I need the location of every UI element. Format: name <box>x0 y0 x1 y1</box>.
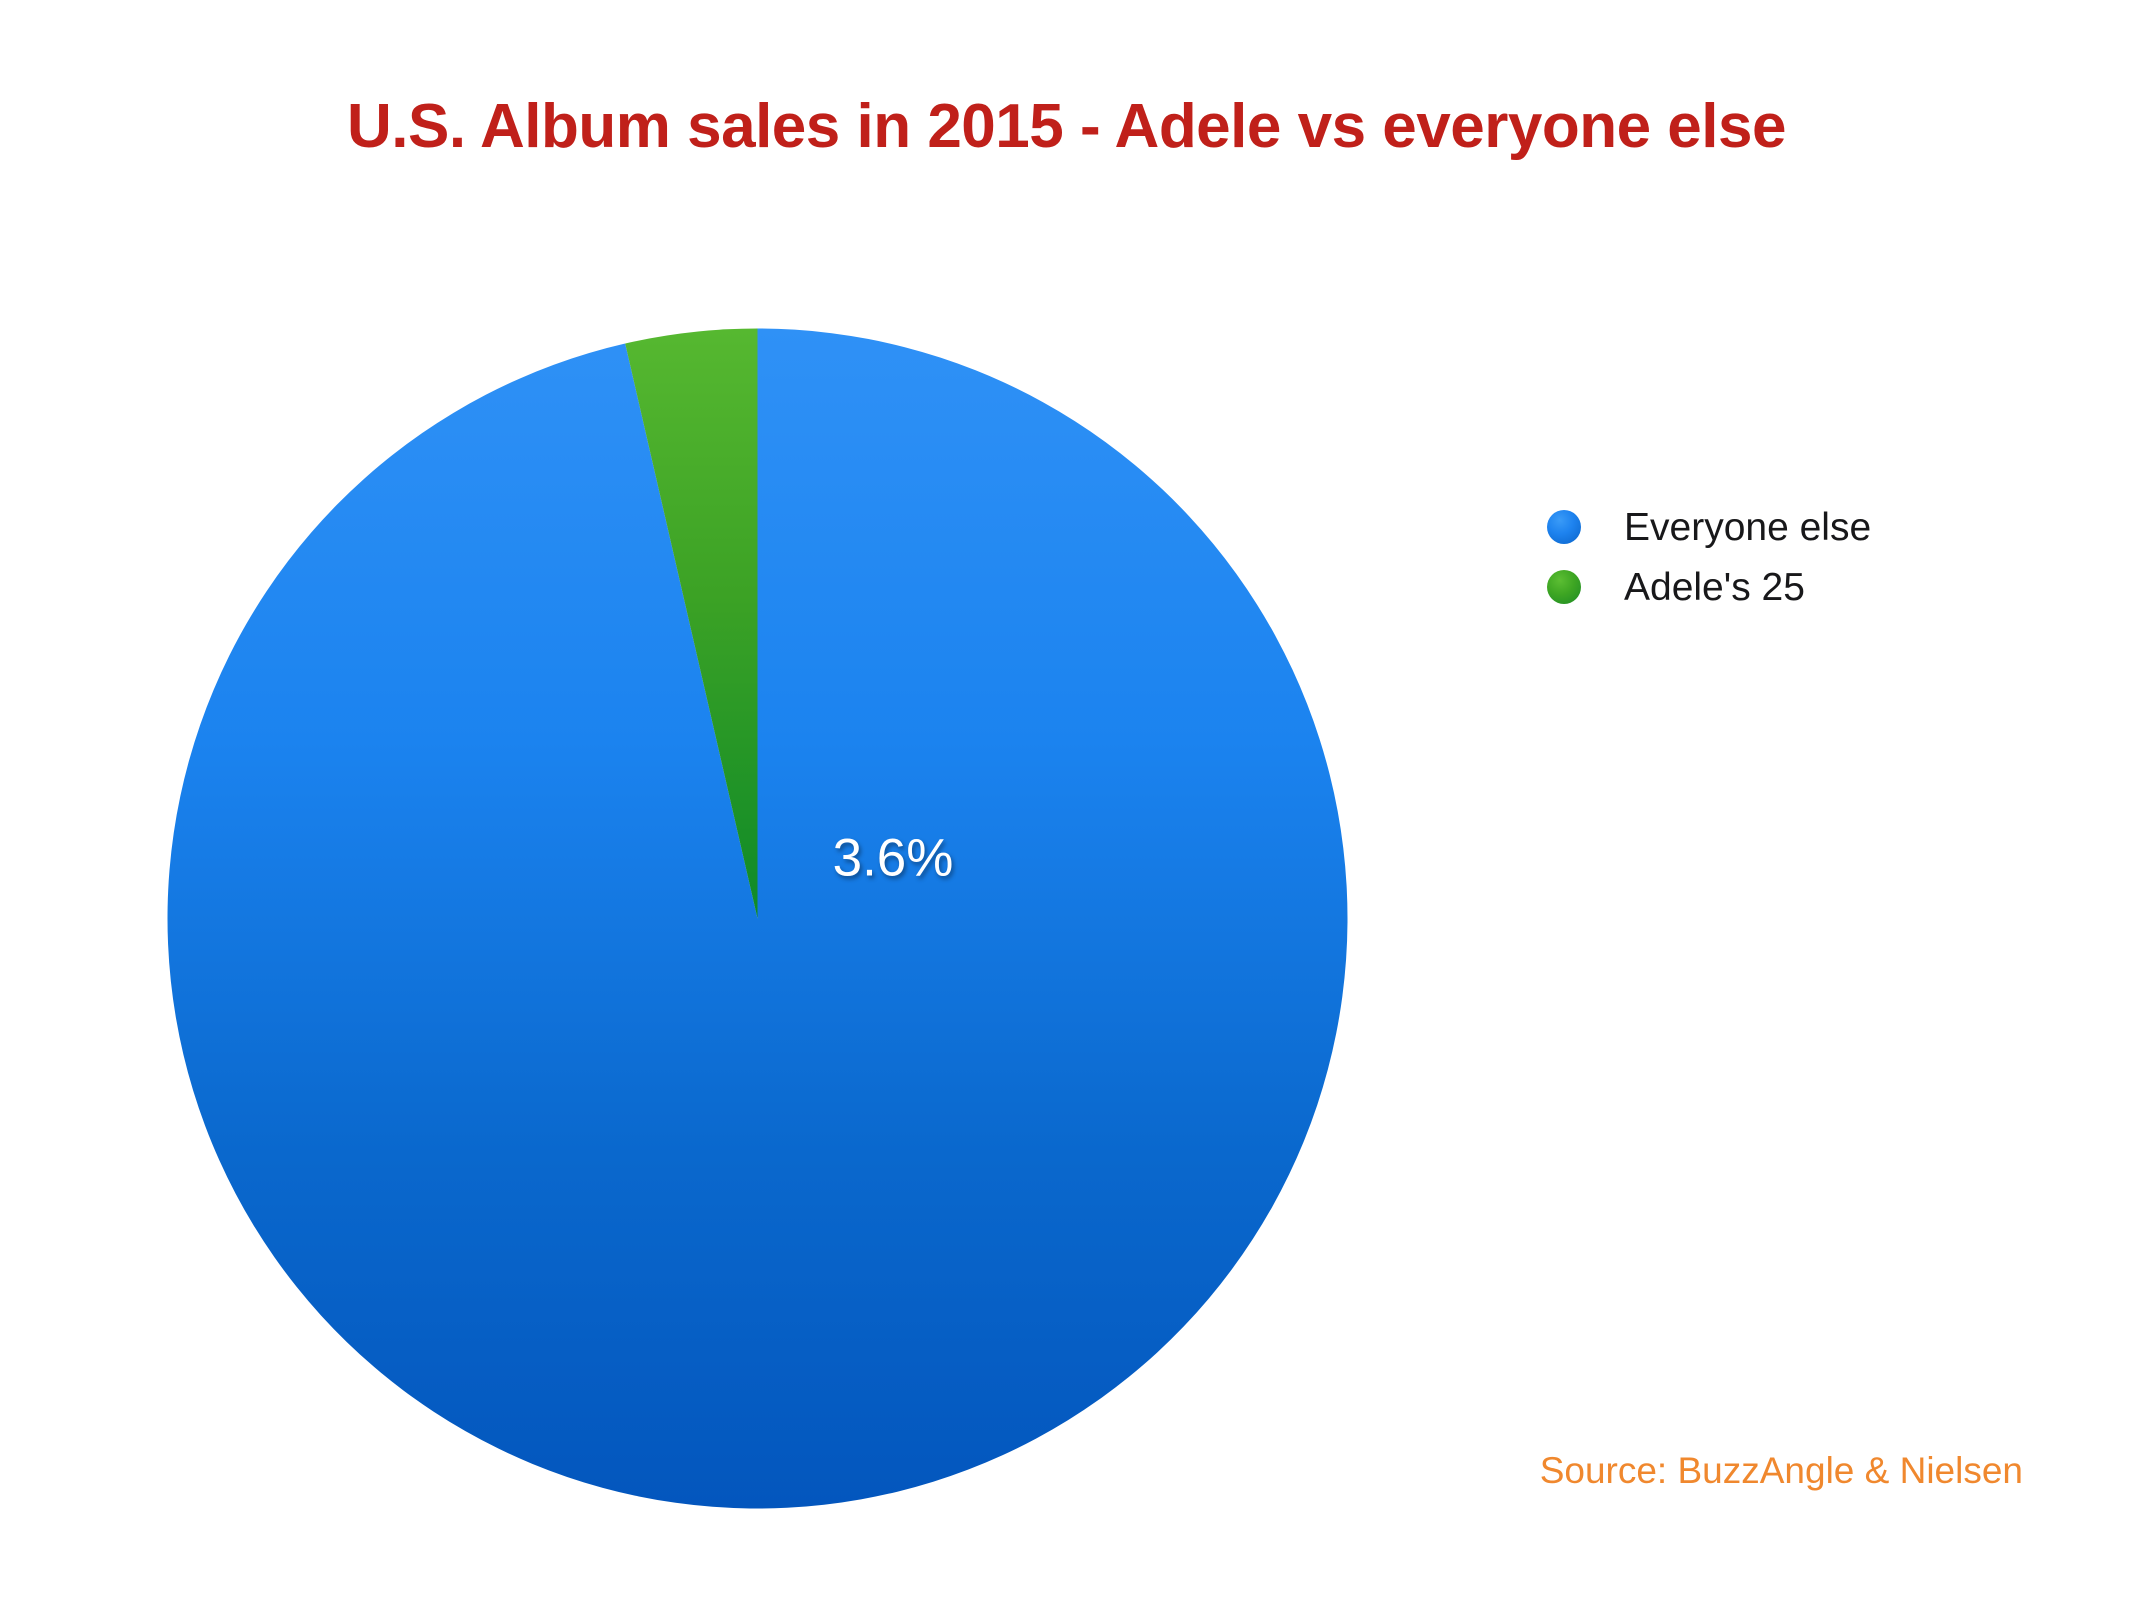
legend-item-adele-25[interactable]: Adele's 25 <box>1547 557 2067 617</box>
source-attribution: Source: BuzzAngle & Nielsen <box>1023 1452 2023 1489</box>
pie-slice-everyone-else[interactable] <box>168 329 1348 1509</box>
pie-chart: 3.6% 96.4% <box>167 328 1348 1509</box>
slice-label-adele-25: 3.6% <box>833 832 954 885</box>
legend-label-adele-25: Adele's 25 <box>1624 568 1805 607</box>
chart-canvas: U.S. Album sales in 2015 - Adele vs ever… <box>0 0 2133 1600</box>
legend-marker-green-dot-icon <box>1547 570 1581 604</box>
legend-item-everyone-else[interactable]: Everyone else <box>1547 497 2067 557</box>
legend-label-everyone-else: Everyone else <box>1624 508 1871 547</box>
pie-svg <box>167 328 1348 1509</box>
chart-title: U.S. Album sales in 2015 - Adele vs ever… <box>0 96 2133 158</box>
legend: Everyone else Adele's 25 <box>1547 497 2067 617</box>
legend-marker-blue-dot-icon <box>1547 510 1581 544</box>
